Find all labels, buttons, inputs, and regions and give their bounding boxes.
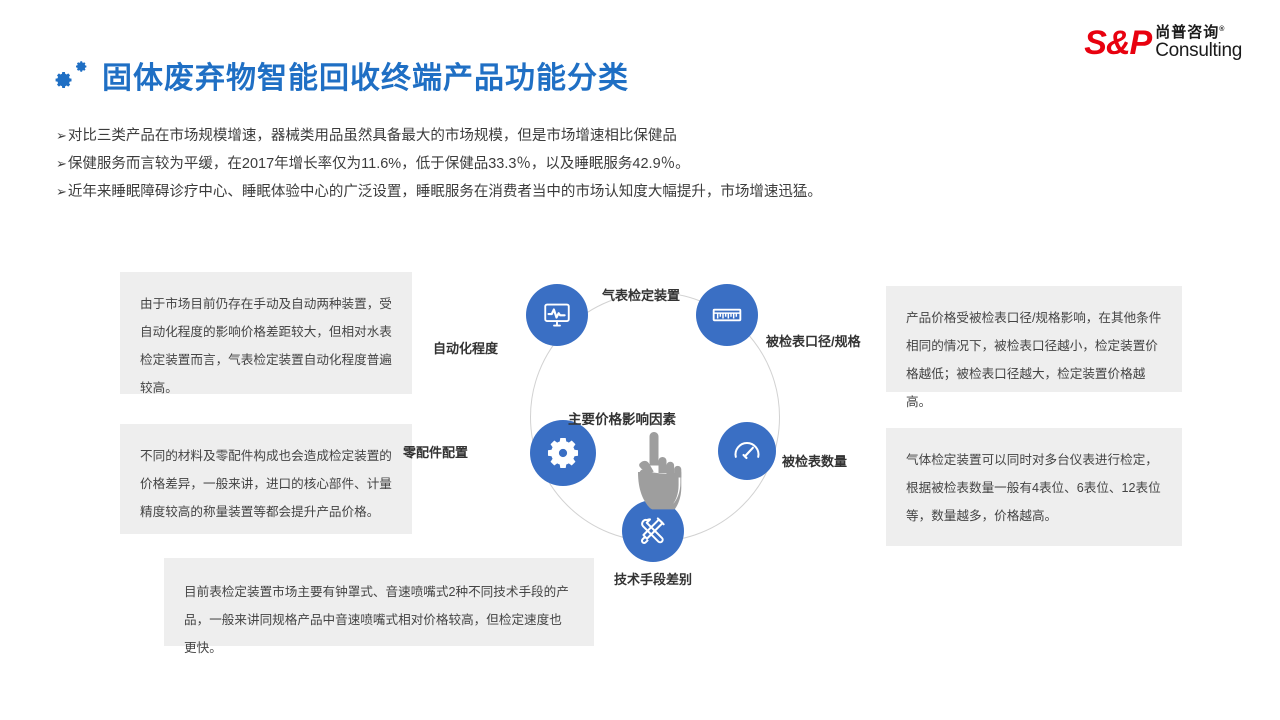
wheel-node-parts[interactable] [530,420,596,486]
wheel-node-caliber[interactable] [696,284,758,346]
note-box-quantity: 气体检定装置可以同时对多台仪表进行检定，根据被检表数量一般有4表位、6表位、12… [886,428,1182,546]
note-box-caliber: 产品价格受被检表口径/规格影响，在其他条件相同的情况下，被检表口径越小，检定装置… [886,286,1182,392]
note-box-automation: 由于市场目前仍存在手动及自动两种装置，受自动化程度的影响价格差距较大，但相对水表… [120,272,412,394]
gauge-icon [731,435,763,467]
logo-cn-name: 尚普咨询® [1155,25,1242,40]
gear-icon [546,436,580,470]
wheel-center-label: 主要价格影响因素 [568,408,676,428]
logo-mark: S&P [1084,26,1151,60]
logo-text-block: 尚普咨询® Consulting [1155,25,1242,60]
wheel-label-automation: 自动化程度 [433,338,498,357]
slide-canvas: S&P 尚普咨询® Consulting 固体废弃物智能回收终端产品功能分类 ➢… [0,0,1280,720]
wheel-label-quantity: 被检表数量 [782,451,847,470]
wheel-node-automation[interactable] [526,284,588,346]
ruler-icon [711,299,743,331]
page-title-row: 固体废弃物智能回收终端产品功能分类 [52,58,629,98]
bullet-text: 对比三类产品在市场规模增速，器械类用品虽然具备最大的市场规模，但是市场增速相比保… [68,128,677,144]
bullet-text: 保健服务而言较为平缓，在2017年增长率仅为11.6%，低于保健品33.3％，以… [68,156,690,172]
note-box-technique: 目前表检定装置市场主要有钟罩式、音速喷嘴式2种不同技术手段的产品，一般来讲同规格… [164,558,594,646]
bullet-item: ➢对比三类产品在市场规模增速，器械类用品虽然具备最大的市场规模，但是市场增速相比… [56,122,1236,150]
wheel-node-quantity[interactable] [718,422,776,480]
bullet-list: ➢对比三类产品在市场规模增速，器械类用品虽然具备最大的市场规模，但是市场增速相比… [56,122,1236,206]
page-title: 固体废弃物智能回收终端产品功能分类 [102,62,629,96]
wheel-label-technique: 技术手段差别 [614,569,692,588]
bullet-item: ➢保健服务而言较为平缓，在2017年增长率仅为11.6%，低于保健品33.3％，… [56,150,1236,178]
monitor-pulse-icon [542,300,572,330]
wheel-label-parts: 零配件配置 [403,442,468,461]
bullet-item: ➢近年来睡眠障碍诊疗中心、睡眠体验中心的广泛设置，睡眠服务在消费者当中的市场认知… [56,178,1236,206]
logo-subtitle: Consulting [1155,41,1242,60]
bullet-marker: ➢ [56,156,67,171]
pointing-hand-icon [628,432,682,510]
sp-consulting-logo: S&P 尚普咨询® Consulting [1084,18,1242,60]
wrench-hammer-icon [637,515,669,547]
note-box-parts: 不同的材料及零配件构成也会造成检定装置的价格差异，一般来讲，进口的核心部件、计量… [120,424,412,534]
wheel-label-caliber: 被检表口径/规格 [766,331,861,350]
bullet-text: 近年来睡眠障碍诊疗中心、睡眠体验中心的广泛设置，睡眠服务在消费者当中的市场认知度… [68,184,822,200]
bullet-marker: ➢ [56,184,67,199]
registered-mark: ® [1219,26,1225,33]
gears-icon [52,58,94,98]
bullet-marker: ➢ [56,128,67,143]
wheel-top-label: 气表检定装置 [602,285,680,304]
